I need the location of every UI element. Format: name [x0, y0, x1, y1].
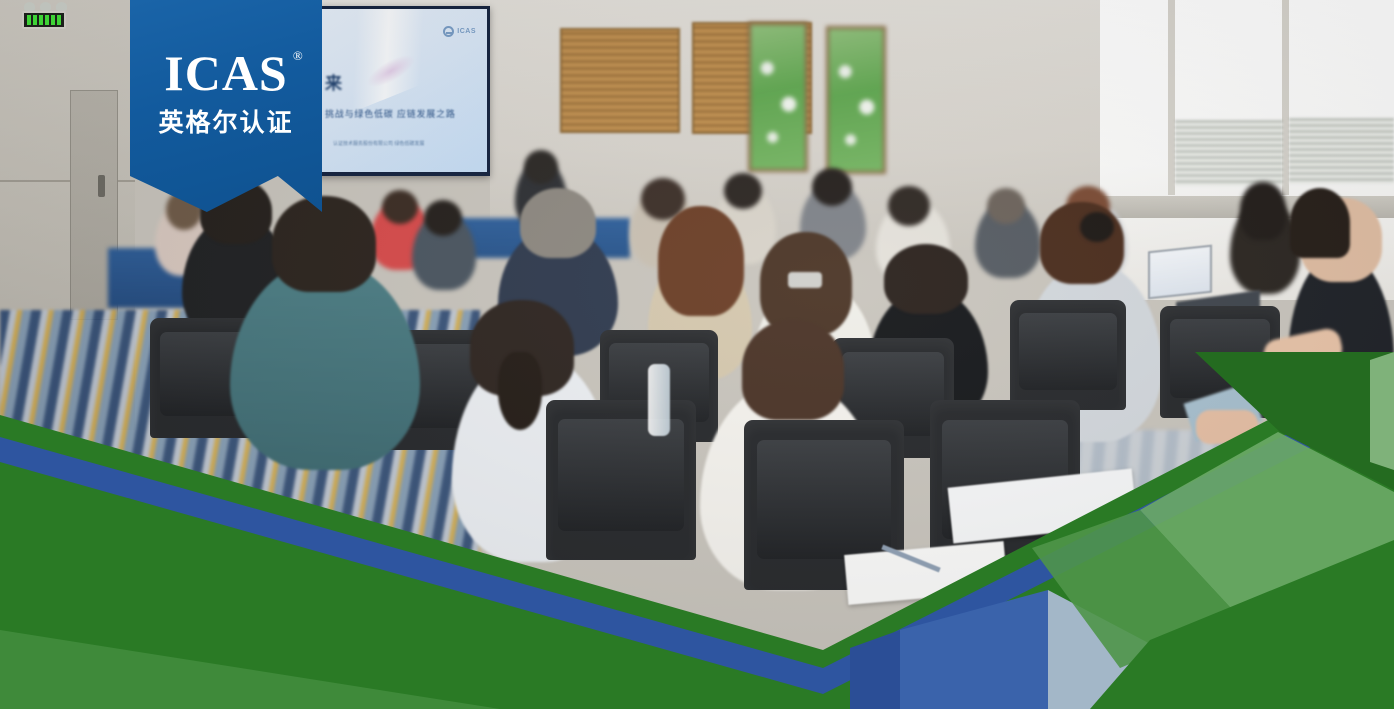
icas-logo: ICAS ® 英格尔认证 [130, 48, 322, 139]
banner-root: ICAS 来 挑战与绿色低碳 应链发展之路 认证技术服务股份有限公司 绿色低碳发… [0, 0, 1394, 709]
icas-wordmark-text: ICAS [164, 45, 287, 101]
icas-wordmark: ICAS ® [164, 48, 287, 98]
icas-logo-panel: ICAS ® 英格尔认证 [130, 0, 322, 212]
icas-chinese-name: 英格尔认证 [130, 103, 322, 139]
registered-mark-icon: ® [293, 49, 304, 62]
